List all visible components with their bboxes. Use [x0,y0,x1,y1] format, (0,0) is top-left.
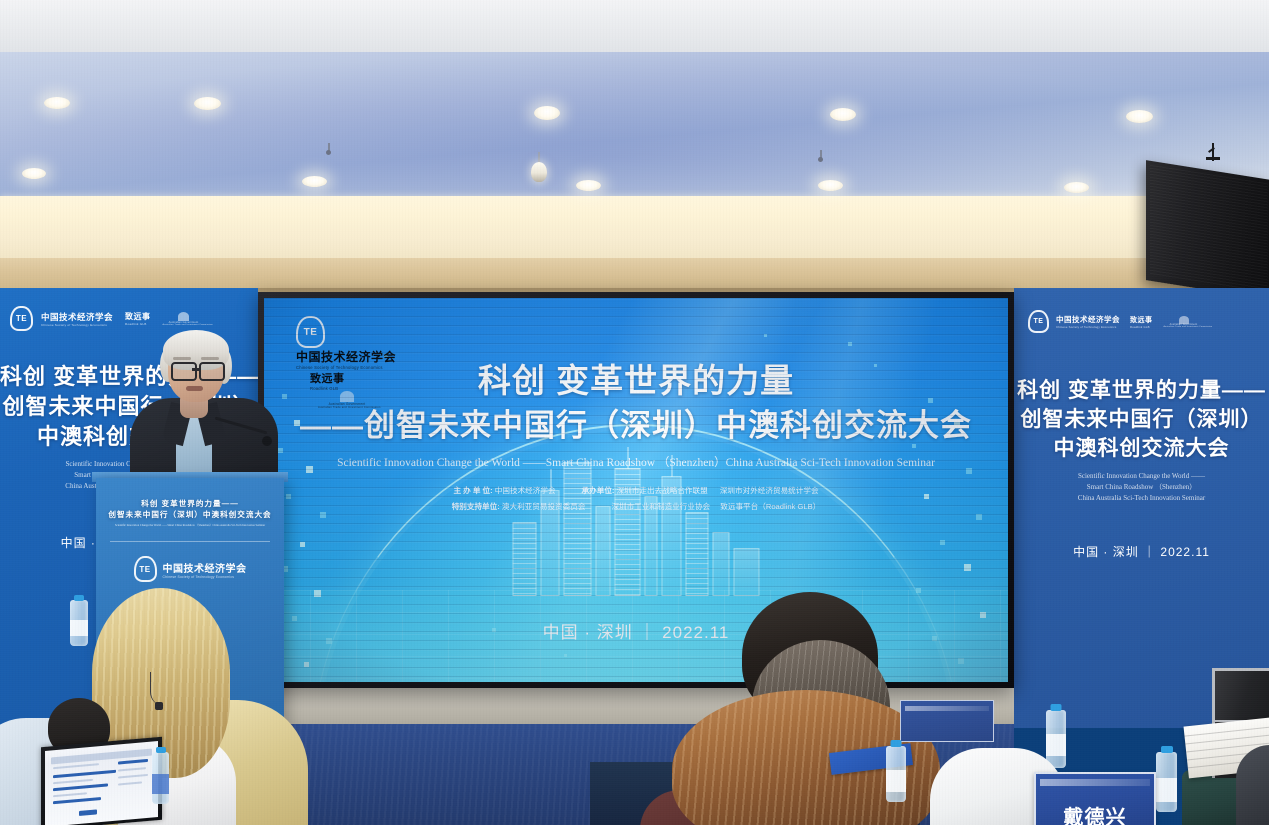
podium-logo-cn: 中国技术经济学会 [163,560,247,575]
glasses-bridge [192,368,200,371]
banner-right-sub-1: Scientific Innovation Change the World —… [1014,471,1269,482]
te-logo-text-screen: TE [304,327,318,338]
speaker-eyebrow-right [201,357,219,360]
screen-dot-19 [940,540,945,545]
ceiling-soffit [0,0,1269,58]
cohost-value-1: 深圳市走出去战略合作联盟 [617,486,708,495]
lapel-mic-wire [150,672,173,706]
banner-right-title-2: 创智未来中国行（深圳） [1014,405,1269,434]
screen-title-line1: 科创 变革世界的力量 [264,358,1008,404]
screen-dot-28 [764,334,767,337]
banner-right-sub-2: Smart China Roadshow （Shenzhen） [1014,482,1269,493]
downlight-5 [1126,110,1153,123]
pendant-bulb-icon [531,152,547,186]
society-name-cn: 中国技术经济学会 [41,311,113,323]
water-bottle-left [70,600,88,646]
sprinkler-head-icon-2 [818,150,823,163]
ceiling-panel [0,52,1269,200]
ceiling-cove [0,196,1269,264]
downlight-7 [302,176,327,187]
te-logo-text-right: TE [1034,318,1044,325]
host-value: 中国技术经济学会 [495,486,556,495]
roadlink-logo-cn: 致远事 [125,311,151,322]
speaker-mouth [186,386,203,391]
banner-right-sub-3: China Australia Sci-Tech Innovation Semi… [1014,493,1269,504]
ceiling-speaker [1146,160,1269,300]
te-logo-text: TE [16,314,27,323]
screen-dot-26 [848,342,852,346]
water-bottle-right [1046,710,1066,768]
downlight-3 [534,106,560,120]
podium-logo-en: Chinese Society of Technology Economics [163,575,247,579]
society-name-en-right: Chinese Society of Technology Economics [1056,325,1120,329]
organizer-row-2: 特别支持单位: 澳大利亚贸易投资委员会 深圳市工业和制造业行业协会 致远事平台（… [264,500,1008,513]
screen-dot-12 [304,662,309,667]
laptop [41,737,162,825]
water-bottle-far-right [1156,752,1177,812]
banner-right-location: 中国 · 深圳 ｜ 2022.11 [1014,543,1269,560]
screen-dot-24 [958,658,964,664]
downlight-10 [1064,182,1089,193]
lapel-mic-icon [155,702,163,710]
screen-location-line: 中国 · 深圳 ｜ 2022.11 [264,618,1008,643]
led-screen-bezel: TE 中国技术经济学会 Chinese Society of Technolog… [258,292,1014,688]
laptop-screen-content [51,749,152,822]
screen-dot-32 [564,654,567,657]
backdrop-banner-right: TE 中国技术经济学会 Chinese Society of Technolog… [1014,288,1269,728]
podium-subtitle-en: Scientific Innovation Change the World —… [96,523,284,528]
support-value: 澳大利亚贸易投资委员会 [502,502,586,511]
host-label: 主 办 单 位: [453,486,492,495]
screen-title-line2: ——创智未来中国行（深圳）中澳科创交流大会 [264,404,1008,448]
roadlink-logo-en: Roadlink GLB [125,322,151,326]
screen-dot-9 [314,590,321,597]
microphone-icon [262,436,272,446]
cohost-value-3: 深圳市工业和制造业行业协会 [611,502,710,511]
cohost-value-4: 致远事平台（Roadlink GLB） [720,502,820,511]
led-screen: TE 中国技术经济学会 Chinese Society of Technolog… [264,298,1008,682]
society-name-en: Chinese Society of Technology Economics [41,323,113,327]
downlight-1 [44,97,70,109]
downlight-2 [194,97,221,110]
screen-skyline-graphic [513,462,760,596]
conference-photo: TE 中国技术经济学会 Chinese Society of Technolog… [0,0,1269,825]
downlight-8 [576,180,601,191]
austrade-line2-right: Australian Trade and Investment Commissi… [1164,326,1204,328]
ceiling-bulkhead [0,258,1269,292]
te-logo-text-podium: TE [139,565,150,574]
nameplate-desk: 戴德兴 [1034,772,1156,825]
roadlink-logo-en-right: Roadlink GLB [1130,325,1153,329]
screen-dot-20 [964,564,971,571]
cohost-label: 承办单位: [582,486,615,495]
downlight-9 [818,180,843,191]
nameplate-secondary [900,700,994,742]
cohost-value-2: 深圳市对外经济贸易统计学会 [720,486,819,495]
glasses-lens-right-icon [199,362,225,381]
glasses-lens-left-icon [171,362,197,381]
screen-dot-7 [300,542,305,547]
downlight-4 [830,108,856,121]
sprinkler-head-icon-1 [326,143,331,156]
water-bottle-laptop [152,752,169,804]
support-label: 特别支持单位: [452,502,500,511]
society-name-cn-right: 中国技术经济学会 [1056,314,1120,325]
podium-title-line2: 创智未来中国行（深圳）中澳科创交流大会 [96,509,284,520]
banner-right-title-3: 中澳科创交流大会 [1014,434,1269,463]
austrade-line2: Australian Trade and Investment Commissi… [163,324,205,326]
banner-right-title-1: 科创 变革世界的力量—— [1014,376,1269,405]
screen-subtitle-en: Scientific Innovation Change the World —… [264,454,1008,472]
roadlink-logo-cn-right: 致远事 [1130,315,1153,325]
organizer-row-1: 主 办 单 位: 中国技术经济学会 承办单位: 深圳市走出去战略合作联盟 深圳市… [264,484,1008,497]
podium-title-line1: 科创 变革世界的力量—— [96,498,284,509]
screen-dot-18 [976,514,982,520]
screen-dot-21 [916,588,921,593]
nameplate-name-text: 戴德兴 [1036,801,1154,825]
speaker-eyebrow-left [173,357,191,360]
nameplate-header-bar [1040,779,1150,786]
water-bottle-center [886,746,906,802]
downlight-6 [22,168,46,179]
